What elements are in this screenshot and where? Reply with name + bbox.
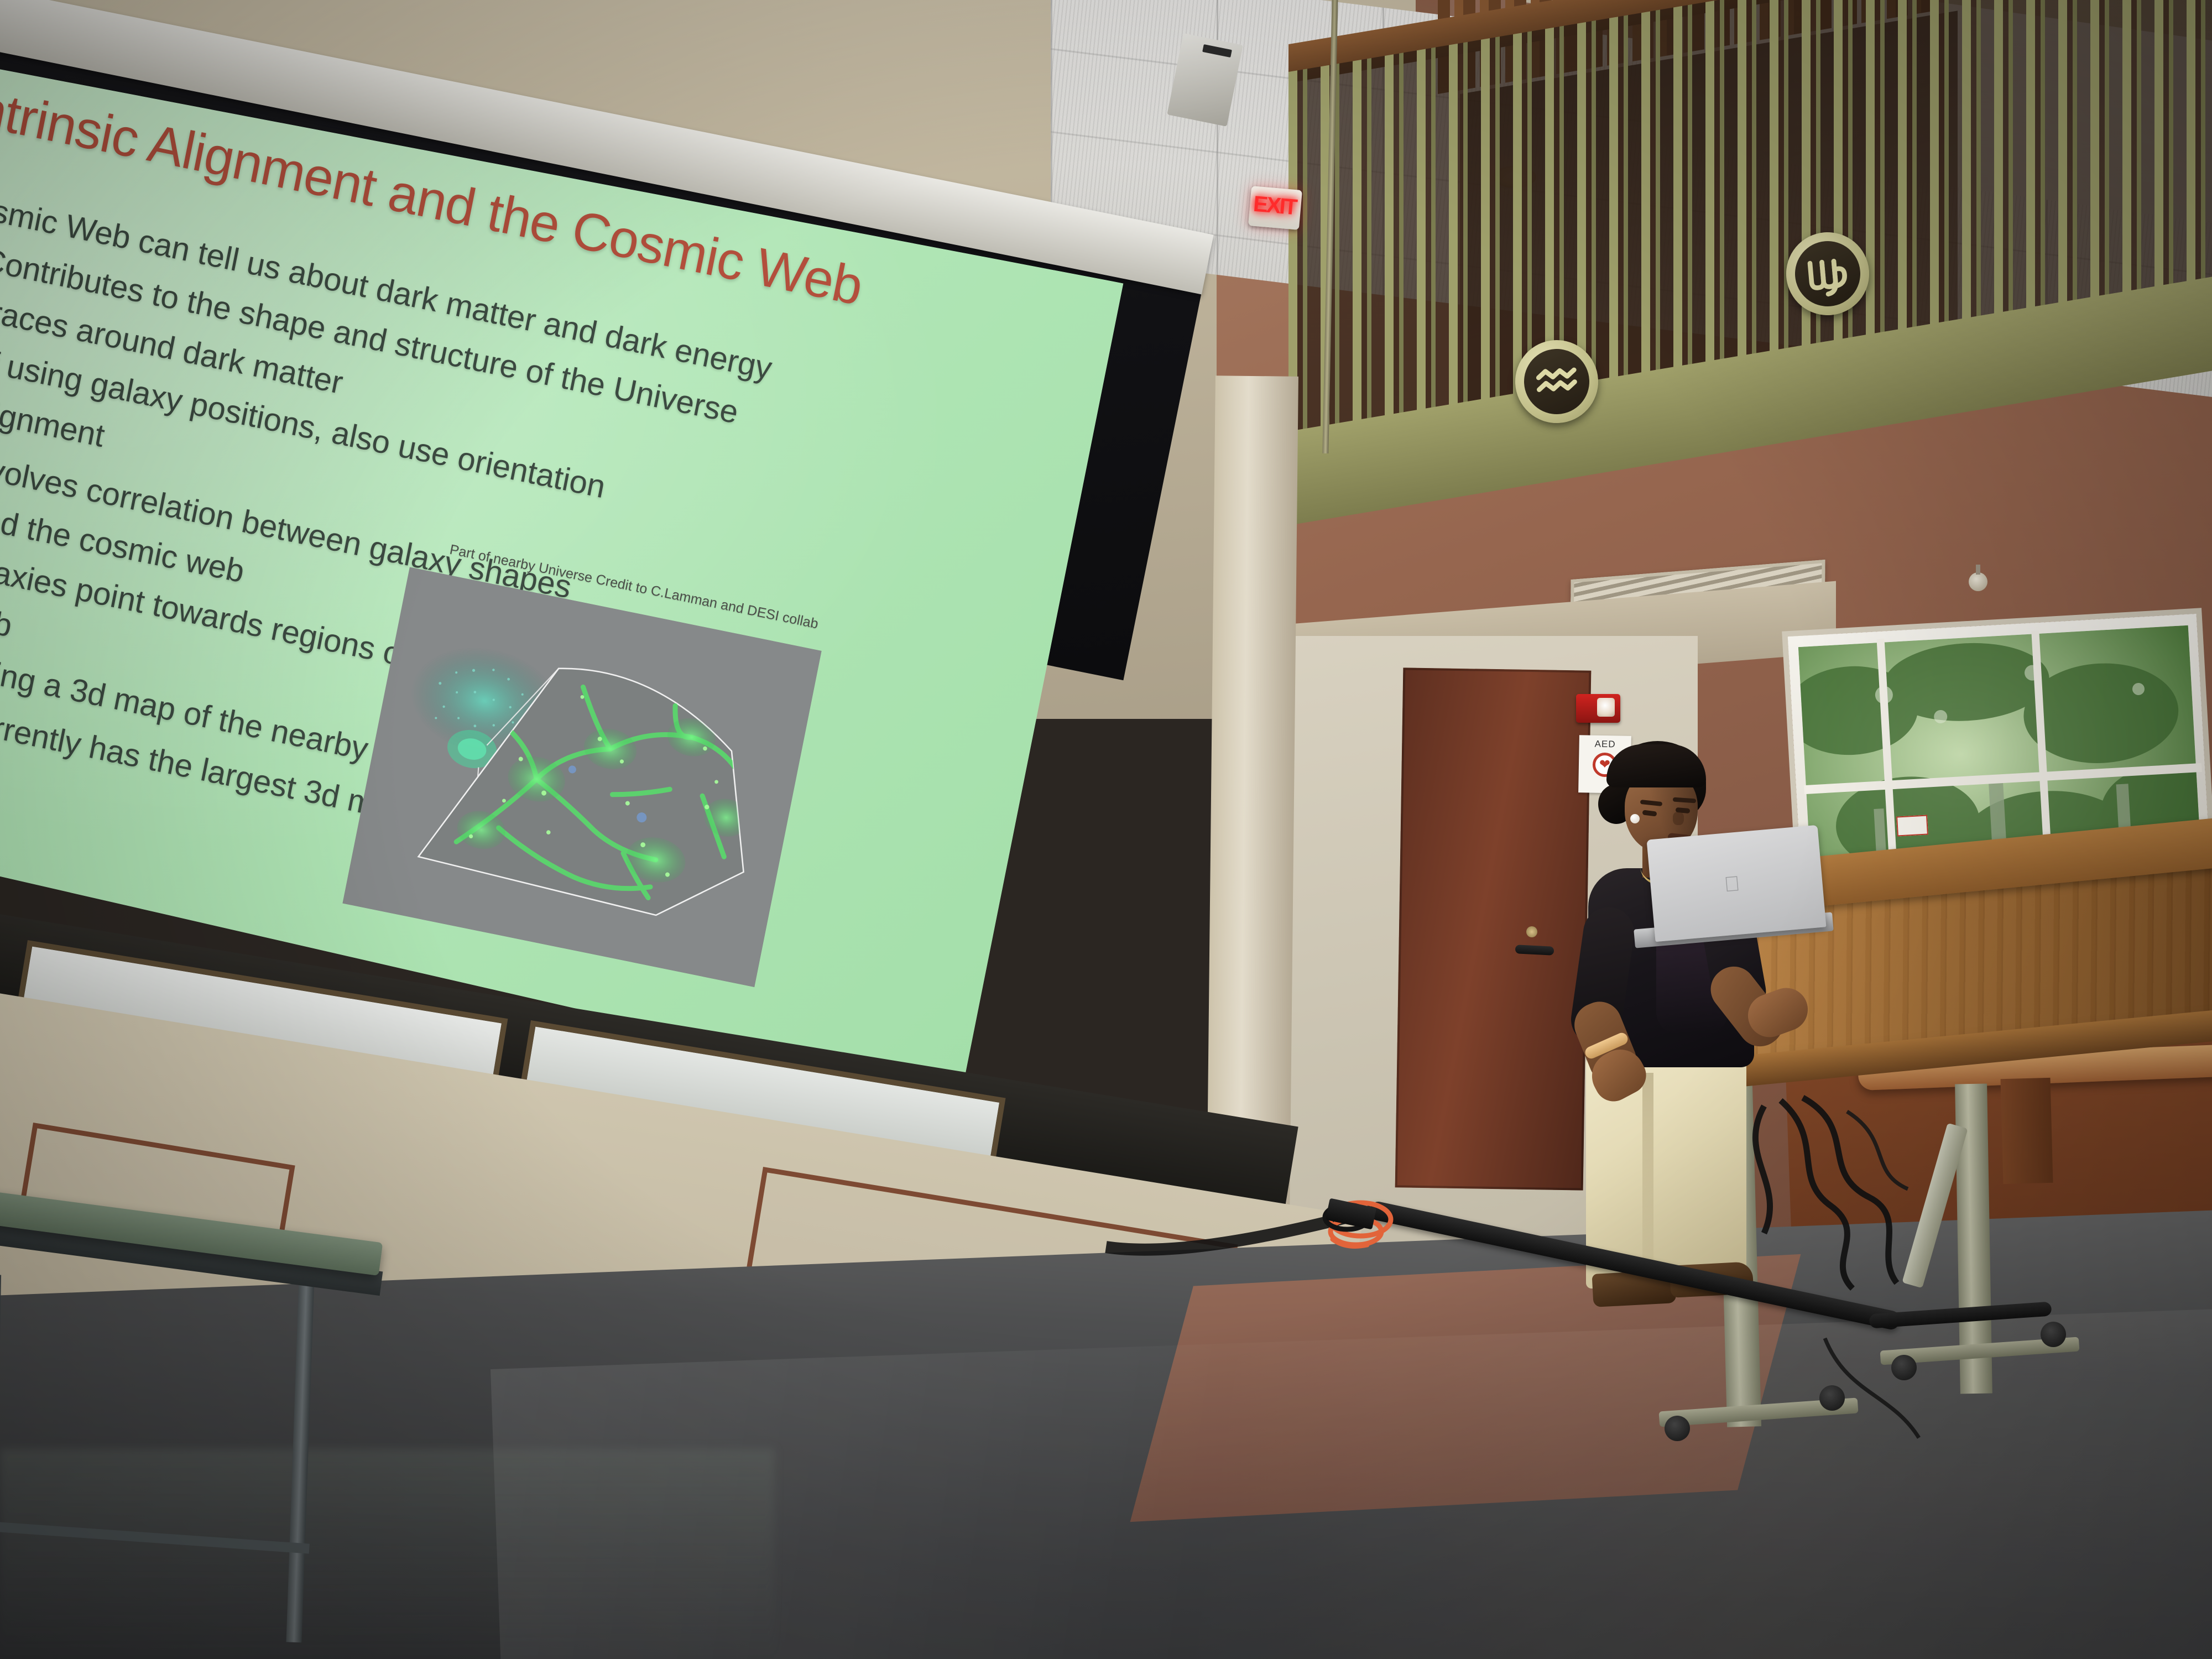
head-wrap [1606, 744, 1706, 787]
apple-logo-icon:  [1723, 873, 1745, 898]
caster-wheel [2041, 1322, 2066, 1347]
lecture-hall-photo: EXIT AED ❤ [0, 0, 2212, 1659]
caster-wheel [1891, 1355, 1917, 1380]
earring [1630, 814, 1640, 823]
caster-wheel [1665, 1416, 1690, 1441]
nose [1673, 812, 1684, 825]
trouser-fold [1642, 1073, 1653, 1283]
structural-column [1207, 375, 1298, 1217]
caster-wheel [1819, 1385, 1845, 1411]
exit-sign: EXIT [1248, 186, 1302, 230]
floor-reflection-left [0, 1449, 774, 1659]
strobe-lens [1597, 698, 1615, 717]
sprinkler-icon [1969, 572, 1987, 591]
exit-sign-text: EXIT [1252, 192, 1297, 221]
door-lock-icon [1526, 926, 1537, 937]
window-sticker [1896, 815, 1928, 836]
bench-leg [2001, 1078, 2053, 1184]
